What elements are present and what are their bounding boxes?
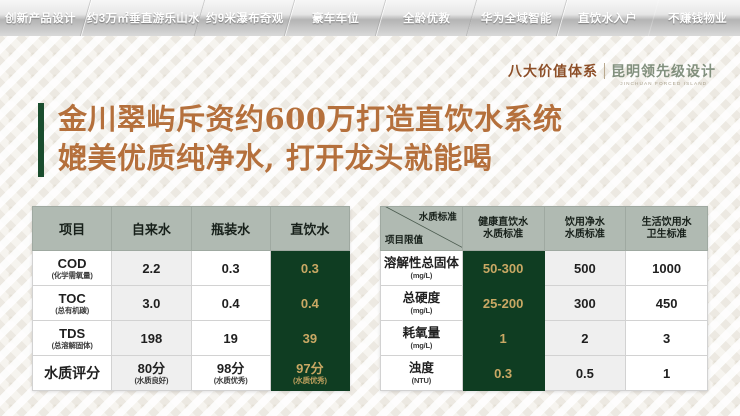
nav-tab-3[interactable]: 豪车车位 xyxy=(286,0,387,36)
nav-tab-label: 约3万㎡垂直游乐山水 xyxy=(87,10,200,26)
corner-bottom-left-label: 项目限值 xyxy=(385,235,423,246)
row-label-cell: COD(化学需氧量) xyxy=(33,251,112,286)
data-cell: 97分(水质优秀) xyxy=(270,356,349,391)
brand-sub-text: 昆明领先级设计 xyxy=(611,62,716,80)
data-cell: 1 xyxy=(626,356,708,391)
cell-value: 0.4 xyxy=(273,296,347,311)
cell-value: 0.3 xyxy=(194,261,268,276)
header-line-2: 卫生标准 xyxy=(628,229,705,241)
row-label-cell: 总硬度(mg/L) xyxy=(381,286,463,321)
right-table-corner-cell: 水质标准 项目限值 xyxy=(381,207,463,251)
cell-value: 450 xyxy=(628,296,705,311)
data-cell: 98分(水质优秀) xyxy=(191,356,270,391)
left-col-header-2: 瓶装水 xyxy=(191,207,270,251)
data-cell: 0.5 xyxy=(544,356,626,391)
nav-tab-label: 创新产品设计 xyxy=(5,10,76,26)
headline-text-group: 金川翠屿斥资约600万打造直饮水系统 媲美优质纯净水, 打开龙头就能喝 xyxy=(58,100,563,178)
row-label-cell: TOC(总有机碳) xyxy=(33,286,112,321)
cell-value: 3.0 xyxy=(114,296,188,311)
nav-tab-4[interactable]: 全龄优教 xyxy=(376,0,477,36)
brand-value-system: 八大价值体系 昆明领先级设计 JINCHUAN FORCED ISLAND xyxy=(508,62,716,87)
nav-tab-5[interactable]: 华为全域智能 xyxy=(467,0,568,36)
row-label-sub: (总有机碳) xyxy=(35,306,109,316)
data-cell: 0.4 xyxy=(191,286,270,321)
row-label-main: 浊度 xyxy=(383,361,460,376)
row-label-main: TOC xyxy=(35,291,109,306)
headline-line-1: 金川翠屿斥资约600万打造直饮水系统 xyxy=(58,100,563,139)
nav-tab-6[interactable]: 直饮水入户 xyxy=(558,0,659,36)
cell-value: 98分 xyxy=(194,361,268,376)
cell-value: 3 xyxy=(628,331,705,346)
cell-value: 2 xyxy=(547,331,624,346)
left-col-header-1: 自来水 xyxy=(112,207,191,251)
data-cell: 0.3 xyxy=(191,251,270,286)
left-col-header-0: 项目 xyxy=(33,207,112,251)
nav-tab-label: 直饮水入户 xyxy=(578,10,637,26)
brand-right-group: 昆明领先级设计 JINCHUAN FORCED ISLAND xyxy=(611,62,716,87)
row-label-main: 溶解性总固体 xyxy=(383,256,460,271)
cell-value-sub: (水质优秀) xyxy=(273,376,347,386)
corner-top-right-label: 水质标准 xyxy=(419,212,457,223)
cell-value: 1 xyxy=(465,331,542,346)
nav-tab-0[interactable]: 创新产品设计 xyxy=(0,0,92,36)
row-label-unit: (mg/L) xyxy=(383,306,460,316)
data-cell: 0.3 xyxy=(462,356,544,391)
data-cell: 39 xyxy=(270,321,349,356)
data-cell: 0.4 xyxy=(270,286,349,321)
nav-tab-label: 不赚钱物业 xyxy=(669,10,728,26)
table-row: 耗氧量(mg/L)123 xyxy=(381,321,708,356)
row-label-main: COD xyxy=(35,256,109,271)
row-label-main: 水质评分 xyxy=(35,363,109,383)
right-col-header-2: 生活饮用水卫生标准 xyxy=(626,207,708,251)
slide-page: 创新产品设计约3万㎡垂直游乐山水约9米瀑布奇观豪车车位全龄优教华为全域智能直饮水… xyxy=(0,0,740,416)
headline-line-2: 媲美优质纯净水, 打开龙头就能喝 xyxy=(58,139,563,178)
cell-value: 19 xyxy=(194,331,268,346)
cell-value: 0.4 xyxy=(194,296,268,311)
headline-block: 金川翠屿斥资约600万打造直饮水系统 媲美优质纯净水, 打开龙头就能喝 xyxy=(38,100,563,178)
nav-tab-label: 约9米瀑布奇观 xyxy=(207,10,285,26)
nav-tab-1[interactable]: 约3万㎡垂直游乐山水 xyxy=(81,0,205,36)
cell-value-sub: (水质良好) xyxy=(114,376,188,386)
data-cell: 198 xyxy=(112,321,191,356)
table-row: 浊度(NTU)0.30.51 xyxy=(381,356,708,391)
brand-main-text: 八大价值体系 xyxy=(508,62,598,80)
nav-tab-label: 全龄优教 xyxy=(403,10,450,26)
nav-tab-label: 豪车车位 xyxy=(312,10,359,26)
left-table-body: COD(化学需氧量)2.20.30.3TOC(总有机碳)3.00.40.4TDS… xyxy=(33,251,350,391)
right-col-header-1: 饮用净水水质标准 xyxy=(544,207,626,251)
right-table-body: 溶解性总固体(mg/L)50-3005001000总硬度(mg/L)25-200… xyxy=(381,251,708,391)
header-line-1: 健康直饮水 xyxy=(465,217,542,229)
data-cell: 0.3 xyxy=(270,251,349,286)
header-line-2: 水质标准 xyxy=(547,229,624,241)
headline-accent-bar xyxy=(38,103,44,177)
brand-english-text: JINCHUAN FORCED ISLAND xyxy=(620,81,707,87)
table-row: 溶解性总固体(mg/L)50-3005001000 xyxy=(381,251,708,286)
left-table-head: 项目自来水瓶装水直饮水 xyxy=(33,207,350,251)
header-line-1: 饮用净水 xyxy=(547,217,624,229)
cell-value: 500 xyxy=(547,261,624,276)
right-table-header-row: 水质标准 项目限值 健康直饮水水质标准饮用净水水质标准生活饮用水卫生标准 xyxy=(381,207,708,251)
cell-value: 2.2 xyxy=(114,261,188,276)
tables-container: 项目自来水瓶装水直饮水 COD(化学需氧量)2.20.30.3TOC(总有机碳)… xyxy=(0,206,740,391)
table-row: 总硬度(mg/L)25-200300450 xyxy=(381,286,708,321)
row-label-main: 总硬度 xyxy=(383,291,460,306)
row-label-cell: 浊度(NTU) xyxy=(381,356,463,391)
header-line-1: 生活饮用水 xyxy=(628,217,705,229)
data-cell: 500 xyxy=(544,251,626,286)
data-cell: 3 xyxy=(626,321,708,356)
row-label-cell: 耗氧量(mg/L) xyxy=(381,321,463,356)
table-row: TOC(总有机碳)3.00.40.4 xyxy=(33,286,350,321)
row-label-cell: TDS(总溶解固体) xyxy=(33,321,112,356)
row-label-sub: (化学需氧量) xyxy=(35,271,109,281)
cell-value: 25-200 xyxy=(465,296,542,311)
data-cell: 19 xyxy=(191,321,270,356)
cell-value: 1 xyxy=(628,366,705,381)
nav-tab-2[interactable]: 约9米瀑布奇观 xyxy=(195,0,296,36)
row-label-main: TDS xyxy=(35,326,109,341)
cell-value: 0.3 xyxy=(465,366,542,381)
water-standard-table: 水质标准 项目限值 健康直饮水水质标准饮用净水水质标准生活饮用水卫生标准 溶解性… xyxy=(380,206,708,391)
data-cell: 1000 xyxy=(626,251,708,286)
cell-value: 39 xyxy=(273,331,347,346)
cell-value: 1000 xyxy=(628,261,705,276)
data-cell: 2.2 xyxy=(112,251,191,286)
cell-value: 50-300 xyxy=(465,261,542,276)
data-cell: 300 xyxy=(544,286,626,321)
data-cell: 1 xyxy=(462,321,544,356)
row-label-main: 耗氧量 xyxy=(383,326,460,341)
row-label-cell: 溶解性总固体(mg/L) xyxy=(381,251,463,286)
row-label-sub: (总溶解固体) xyxy=(35,341,109,351)
data-cell: 25-200 xyxy=(462,286,544,321)
table-row: 水质评分80分(水质良好)98分(水质优秀)97分(水质优秀) xyxy=(33,356,350,391)
row-label-unit: (mg/L) xyxy=(383,341,460,351)
right-col-header-0: 健康直饮水水质标准 xyxy=(462,207,544,251)
data-cell: 80分(水质良好) xyxy=(112,356,191,391)
data-cell: 3.0 xyxy=(112,286,191,321)
header-line-2: 水质标准 xyxy=(465,229,542,241)
data-cell: 50-300 xyxy=(462,251,544,286)
cell-value-sub: (水质优秀) xyxy=(194,376,268,386)
row-label-cell: 水质评分 xyxy=(33,356,112,391)
data-cell: 450 xyxy=(626,286,708,321)
row-label-unit: (NTU) xyxy=(383,376,460,386)
right-table-head: 水质标准 项目限值 健康直饮水水质标准饮用净水水质标准生活饮用水卫生标准 xyxy=(381,207,708,251)
cell-value: 0.5 xyxy=(547,366,624,381)
left-col-header-3: 直饮水 xyxy=(270,207,349,251)
cell-value: 198 xyxy=(114,331,188,346)
cell-value: 300 xyxy=(547,296,624,311)
row-label-unit: (mg/L) xyxy=(383,271,460,281)
table-row: COD(化学需氧量)2.20.30.3 xyxy=(33,251,350,286)
nav-tab-label: 华为全域智能 xyxy=(482,10,553,26)
brand-divider xyxy=(604,63,605,79)
table-row: TDS(总溶解固体)1981939 xyxy=(33,321,350,356)
top-navigation: 创新产品设计约3万㎡垂直游乐山水约9米瀑布奇观豪车车位全龄优教华为全域智能直饮水… xyxy=(0,0,740,36)
water-comparison-table: 项目自来水瓶装水直饮水 COD(化学需氧量)2.20.30.3TOC(总有机碳)… xyxy=(32,206,350,391)
cell-value: 0.3 xyxy=(273,261,347,276)
data-cell: 2 xyxy=(544,321,626,356)
cell-value: 97分 xyxy=(273,361,347,376)
cell-value: 80分 xyxy=(114,361,188,376)
left-table-header-row: 项目自来水瓶装水直饮水 xyxy=(33,207,350,251)
nav-tab-7[interactable]: 不赚钱物业 xyxy=(648,0,740,36)
